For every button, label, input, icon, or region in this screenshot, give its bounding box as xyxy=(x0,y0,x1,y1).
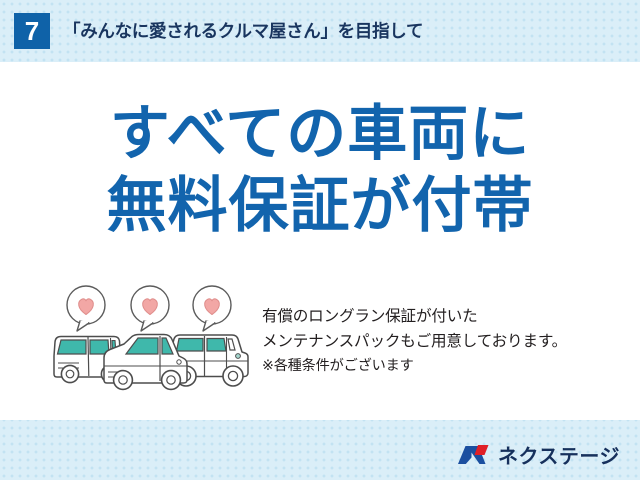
description-line-2: メンテナンスパックもご用意しております。 xyxy=(262,329,640,354)
headline-line-2: 無料保証が付帯 xyxy=(0,170,640,242)
headline-line-1: すべての車両に xyxy=(0,98,640,170)
lower-content-row: 有償のロングラン保証が付いた メンテナンスパックもご用意しております。 ※各種条… xyxy=(0,284,640,404)
warranty-banner: 7 「みんなに愛されるクルマ屋さん」を目指して すべての車両に 無料保証が付帯 xyxy=(0,0,640,480)
headline: すべての車両に 無料保証が付帯 xyxy=(0,98,640,242)
speech-bubble-1 xyxy=(67,286,105,331)
banner-header: 7 「みんなに愛されるクルマ屋さん」を目指して xyxy=(0,0,640,61)
cars-with-heart-bubbles-illustration xyxy=(46,284,252,392)
nextage-logo-text: ネクステージ xyxy=(498,440,620,469)
description-text: 有償のロングラン保証が付いた メンテナンスパックもご用意しております。 ※各種条… xyxy=(262,304,640,379)
footer-logo: ネクステージ xyxy=(457,440,620,469)
content-panel: すべての車両に 無料保証が付帯 xyxy=(0,62,640,420)
step-number-badge: 7 xyxy=(14,13,50,49)
nextage-n-mark-icon xyxy=(457,443,491,467)
description-note: ※各種条件がございます xyxy=(262,354,640,379)
description-line-1: 有償のロングラン保証が付いた xyxy=(262,304,640,329)
speech-bubble-2 xyxy=(131,286,169,331)
speech-bubble-3 xyxy=(193,286,231,331)
header-title: 「みんなに愛されるクルマ屋さん」を目指して xyxy=(63,18,423,43)
